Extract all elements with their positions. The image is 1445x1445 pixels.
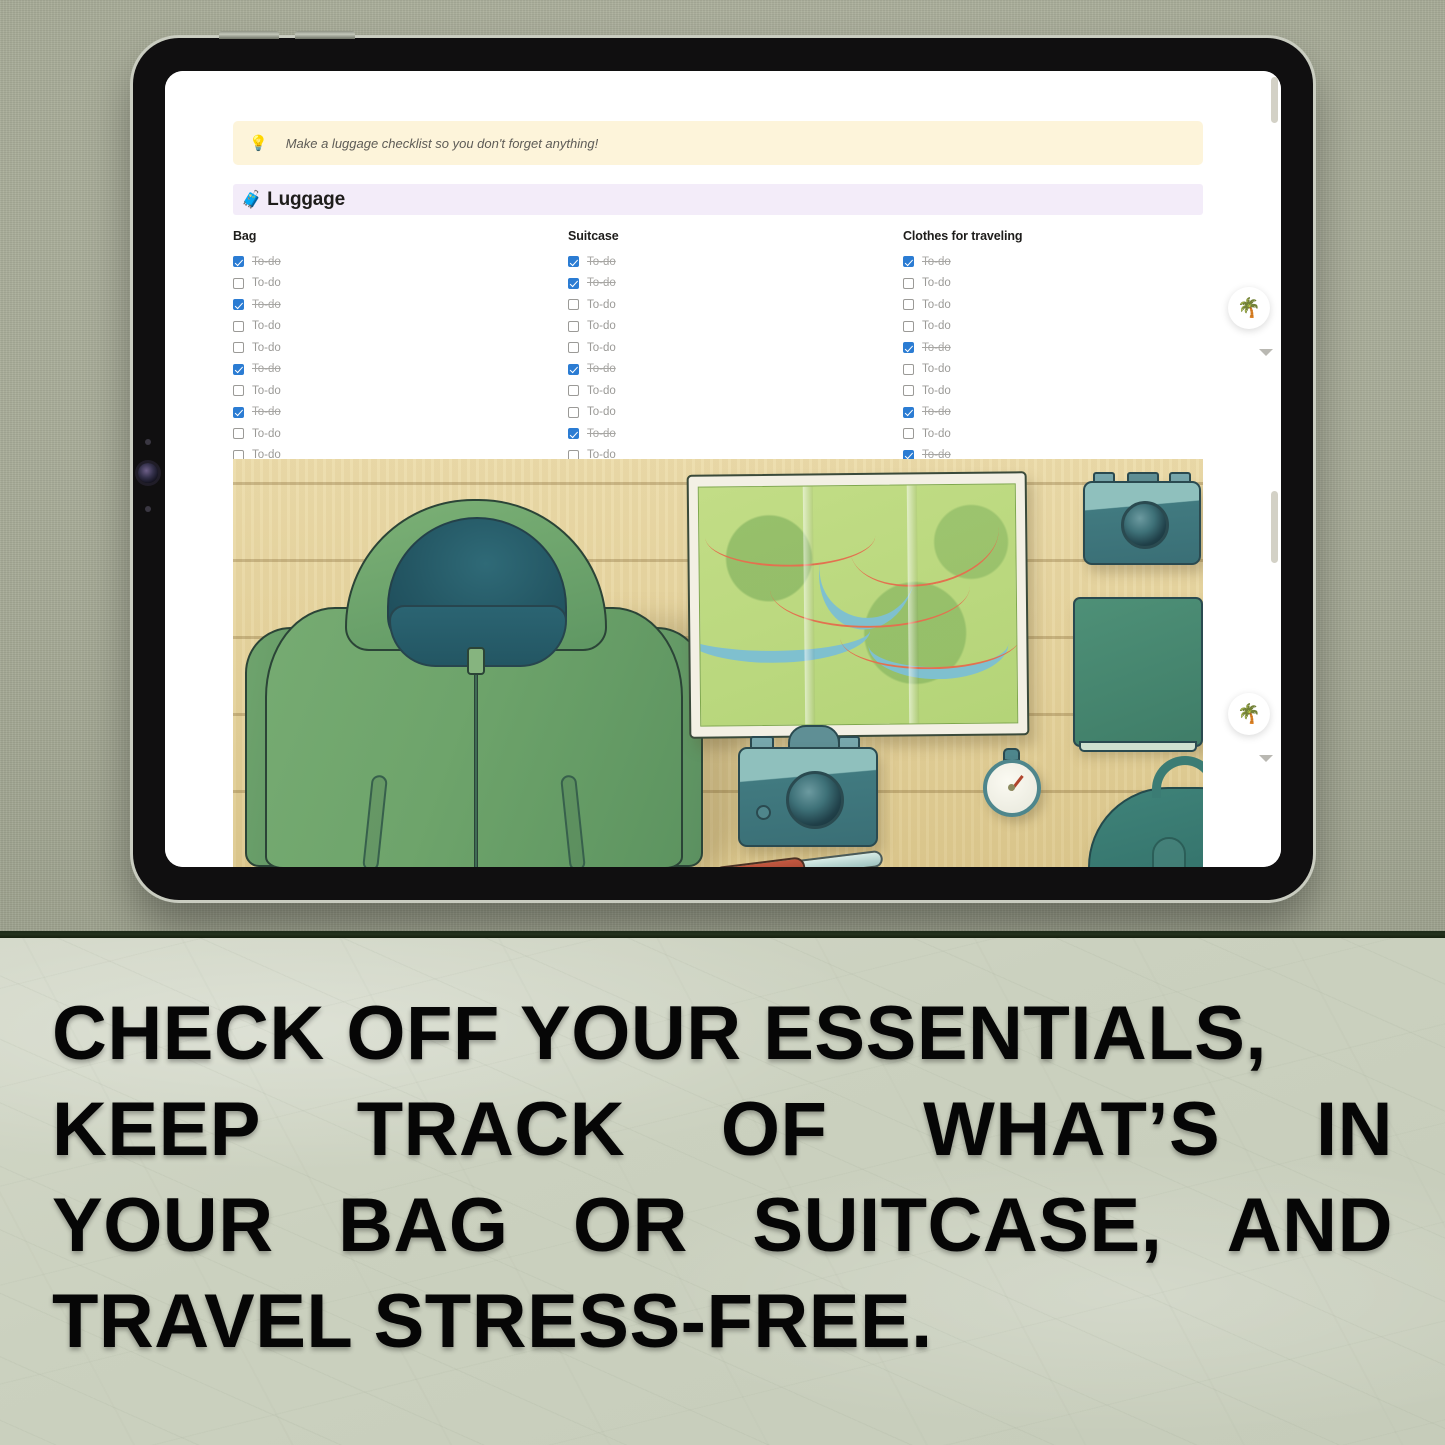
- front-camera-icon: [138, 463, 158, 483]
- todo-item[interactable]: To-do: [903, 380, 1238, 402]
- todo-item[interactable]: To-do: [233, 359, 568, 381]
- section-divider: [0, 931, 1445, 938]
- checkbox-unchecked-icon[interactable]: [568, 342, 579, 353]
- caption-word: OR: [573, 1178, 688, 1274]
- checkbox-unchecked-icon[interactable]: [233, 321, 244, 332]
- todo-item[interactable]: To-do: [568, 359, 903, 381]
- microphone-icon: [145, 439, 151, 445]
- checkbox-checked-icon[interactable]: [903, 407, 914, 418]
- caption-word: TRACK: [357, 1082, 625, 1178]
- todo-item[interactable]: To-do: [568, 251, 903, 273]
- section-heading-luggage: 🧳 Luggage: [233, 184, 1203, 215]
- caption-word: BAG: [338, 1178, 508, 1274]
- checkbox-unchecked-icon[interactable]: [903, 321, 914, 332]
- lightbulb-icon: 💡: [249, 136, 268, 151]
- todo-item[interactable]: To-do: [568, 337, 903, 359]
- todo-label: To-do: [587, 428, 616, 440]
- camera-illustration: [738, 747, 878, 847]
- checkbox-checked-icon[interactable]: [568, 256, 579, 267]
- stopwatch-illustration: [983, 759, 1041, 817]
- todo-item[interactable]: To-do: [903, 273, 1238, 295]
- caption-word: YOUR: [52, 1178, 274, 1274]
- todo-label: To-do: [587, 299, 616, 311]
- checkbox-unchecked-icon[interactable]: [903, 428, 914, 439]
- todo-item[interactable]: To-do: [903, 251, 1238, 273]
- todo-item[interactable]: To-do: [903, 359, 1238, 381]
- caption-line-3: YOURBAGORSUITCASE,AND: [52, 1178, 1393, 1274]
- checkbox-unchecked-icon[interactable]: [233, 385, 244, 396]
- todo-item[interactable]: To-do: [903, 423, 1238, 445]
- todo-label: To-do: [922, 428, 951, 440]
- scrollbar-thumb[interactable]: [1271, 77, 1278, 123]
- todo-label: To-do: [252, 428, 281, 440]
- caption-line-1: CHECK OFF YOUR ESSENTIALS,: [52, 986, 1393, 1082]
- palm-tree-button[interactable]: 🌴: [1228, 693, 1270, 735]
- todo-label: To-do: [252, 342, 281, 354]
- todo-item[interactable]: To-do: [233, 337, 568, 359]
- checkbox-unchecked-icon[interactable]: [903, 364, 914, 375]
- checkbox-unchecked-icon[interactable]: [568, 299, 579, 310]
- volume-down-button[interactable]: [295, 31, 355, 39]
- caption-word: KEEP: [52, 1082, 261, 1178]
- todo-label: To-do: [252, 363, 281, 375]
- checklist-column: Clothes for travelingTo-doTo-doTo-doTo-d…: [903, 229, 1238, 444]
- todo-label: To-do: [587, 385, 616, 397]
- checkbox-unchecked-icon[interactable]: [568, 321, 579, 332]
- checkbox-checked-icon[interactable]: [233, 299, 244, 310]
- todo-label: To-do: [922, 363, 951, 375]
- todo-label: To-do: [922, 406, 951, 418]
- todo-label: To-do: [587, 406, 616, 418]
- checkbox-checked-icon[interactable]: [568, 428, 579, 439]
- luggage-icon: 🧳: [241, 190, 262, 210]
- todo-label: To-do: [252, 385, 281, 397]
- folded-map-illustration: [688, 473, 1028, 737]
- todo-item[interactable]: To-do: [233, 316, 568, 338]
- microphone-icon: [145, 506, 151, 512]
- todo-item[interactable]: To-do: [903, 294, 1238, 316]
- checkbox-unchecked-icon[interactable]: [903, 385, 914, 396]
- palm-tree-icon: 🌴: [1237, 299, 1261, 318]
- caption-word: OF: [721, 1082, 828, 1178]
- column-title: Bag: [233, 229, 568, 243]
- callout-block: 💡 Make a luggage checklist so you don't …: [233, 121, 1203, 165]
- todo-item[interactable]: To-do: [568, 380, 903, 402]
- todo-item[interactable]: To-do: [233, 423, 568, 445]
- todo-label: To-do: [922, 320, 951, 332]
- caption-word: IN: [1316, 1082, 1393, 1178]
- todo-label: To-do: [252, 256, 281, 268]
- volume-up-button[interactable]: [219, 31, 279, 39]
- todo-item[interactable]: To-do: [233, 402, 568, 424]
- camera-illustration: [1083, 481, 1201, 565]
- todo-item[interactable]: To-do: [568, 316, 903, 338]
- checkbox-checked-icon[interactable]: [233, 364, 244, 375]
- checkbox-unchecked-icon[interactable]: [568, 407, 579, 418]
- section-title: Luggage: [267, 189, 345, 211]
- todo-item[interactable]: To-do: [568, 423, 903, 445]
- note-page: 💡 Make a luggage checklist so you don't …: [165, 71, 1281, 867]
- checkbox-unchecked-icon[interactable]: [233, 278, 244, 289]
- todo-label: To-do: [587, 363, 616, 375]
- checkbox-checked-icon[interactable]: [568, 364, 579, 375]
- tablet-screen: 💡 Make a luggage checklist so you don't …: [165, 71, 1281, 867]
- marketing-caption: CHECK OFF YOUR ESSENTIALS, KEEPTRACKOFWH…: [0, 938, 1445, 1370]
- todo-label: To-do: [922, 342, 951, 354]
- checklist-column: SuitcaseTo-doTo-doTo-doTo-doTo-doTo-doTo…: [568, 229, 903, 444]
- todo-item[interactable]: To-do: [233, 294, 568, 316]
- callout-text: Make a luggage checklist so you don't fo…: [286, 136, 599, 151]
- chevron-down-icon[interactable]: [1259, 755, 1273, 762]
- todo-item[interactable]: To-do: [903, 402, 1238, 424]
- travel-gear-illustration: [233, 459, 1203, 867]
- todo-label: To-do: [922, 299, 951, 311]
- palm-tree-button[interactable]: 🌴: [1228, 287, 1270, 329]
- todo-label: To-do: [252, 406, 281, 418]
- checkbox-checked-icon[interactable]: [903, 256, 914, 267]
- todo-label: To-do: [587, 320, 616, 332]
- todo-item[interactable]: To-do: [233, 380, 568, 402]
- caption-word: SUITCASE,: [752, 1178, 1162, 1274]
- todo-label: To-do: [922, 277, 951, 289]
- tablet-scene: 💡 Make a luggage checklist so you don't …: [0, 0, 1445, 934]
- checkbox-unchecked-icon[interactable]: [568, 385, 579, 396]
- checkbox-unchecked-icon[interactable]: [233, 428, 244, 439]
- tablet-device: 💡 Make a luggage checklist so you don't …: [133, 38, 1313, 900]
- column-title: Clothes for traveling: [903, 229, 1238, 243]
- green-jacket-illustration: [239, 487, 709, 867]
- todo-item[interactable]: To-do: [233, 273, 568, 295]
- todo-label: To-do: [587, 342, 616, 354]
- todo-label: To-do: [587, 256, 616, 268]
- caption-line-4: TRAVEL STRESS-FREE.: [52, 1274, 1393, 1370]
- todo-item[interactable]: To-do: [568, 294, 903, 316]
- todo-label: To-do: [252, 320, 281, 332]
- checkbox-checked-icon[interactable]: [568, 278, 579, 289]
- todo-label: To-do: [587, 277, 616, 289]
- chevron-down-icon[interactable]: [1259, 349, 1273, 356]
- todo-item[interactable]: To-do: [903, 337, 1238, 359]
- checkbox-checked-icon[interactable]: [233, 256, 244, 267]
- checkbox-unchecked-icon[interactable]: [903, 299, 914, 310]
- todo-item[interactable]: To-do: [903, 316, 1238, 338]
- column-title: Suitcase: [568, 229, 903, 243]
- checkbox-checked-icon[interactable]: [903, 342, 914, 353]
- checklist-column: BagTo-doTo-doTo-doTo-doTo-doTo-doTo-doTo…: [233, 229, 568, 444]
- palm-tree-icon: 🌴: [1237, 705, 1261, 724]
- todo-item[interactable]: To-do: [568, 273, 903, 295]
- todo-item[interactable]: To-do: [233, 251, 568, 273]
- scrollbar-thumb[interactable]: [1271, 491, 1278, 563]
- todo-label: To-do: [252, 299, 281, 311]
- caption-panel: CHECK OFF YOUR ESSENTIALS, KEEPTRACKOFWH…: [0, 938, 1445, 1445]
- checklist-columns: BagTo-doTo-doTo-doTo-doTo-doTo-doTo-doTo…: [233, 229, 1243, 444]
- todo-label: To-do: [922, 256, 951, 268]
- todo-item[interactable]: To-do: [568, 402, 903, 424]
- caption-word: AND: [1227, 1178, 1393, 1274]
- checkbox-unchecked-icon[interactable]: [903, 278, 914, 289]
- checkbox-unchecked-icon[interactable]: [233, 342, 244, 353]
- checkbox-checked-icon[interactable]: [233, 407, 244, 418]
- caption-word: WHAT’S: [923, 1082, 1220, 1178]
- notebook-illustration: [1073, 597, 1203, 747]
- caption-line-2: KEEPTRACKOFWHAT’SIN: [52, 1082, 1393, 1178]
- todo-label: To-do: [252, 277, 281, 289]
- todo-label: To-do: [922, 385, 951, 397]
